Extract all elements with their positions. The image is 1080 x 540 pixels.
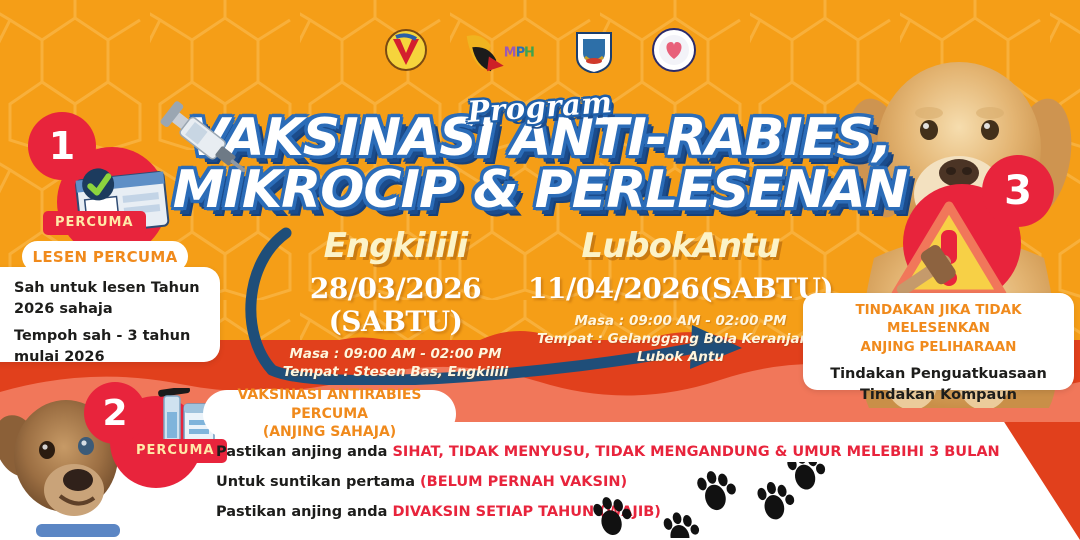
bullet-plain: Untuk suntikan pertama: [216, 474, 420, 490]
mphlg-logo: M P H: [463, 27, 537, 73]
event-date: 28/03/2026 (SABTU): [243, 272, 548, 338]
event-lubok-antu: LubokAntu 11/04/2026(SABTU) Masa : 09:00…: [528, 226, 833, 367]
enforcement-head-line-2: ANJING PELIHARAAN: [803, 337, 1074, 357]
lesen-percuma-pill: LESEN PERCUMA: [22, 241, 188, 272]
step-badge-2: 2: [84, 382, 146, 444]
veterinary-services-logo: [383, 27, 429, 73]
svg-text:H: H: [524, 45, 535, 60]
license-line-2: Tempoh sah - 3 tahun mulai 2026: [0, 320, 220, 368]
bullet-plain: Pastikan anjing anda: [216, 504, 392, 520]
event-time: Masa : 09:00 AM - 02:00 PM: [243, 345, 548, 363]
license-info-card: Sah untuk lesen Tahun 2026 sahaja Tempoh…: [0, 267, 220, 362]
enforcement-body-line-2: Tindakan Kompaun: [803, 385, 1074, 406]
bullet-line: Pastikan anjing anda SIHAT, TIDAK MENYUS…: [216, 444, 1000, 460]
event-venue: Tempat : Stesen Bas, Engkilili: [243, 363, 548, 381]
logo-bar: M P H: [0, 27, 1080, 73]
bullet-plain: Pastikan anjing anda: [216, 444, 392, 460]
svg-text:M: M: [504, 45, 517, 60]
license-line-1: Sah untuk lesen Tahun 2026 sahaja: [0, 267, 220, 320]
vaksinasi-pill-line-1: VAKSINASI ANTIRABIES PERCUMA: [203, 386, 456, 424]
percuma-tag-2: PERCUMA: [124, 439, 227, 463]
enforcement-info-card: TINDAKAN JIKA TIDAK MELESENKAN ANJING PE…: [803, 293, 1074, 390]
enforcement-head-line-1: TINDAKAN JIKA TIDAK MELESENKAN: [803, 293, 1074, 337]
event-venue: Tempat : Gelanggang Bola Keranjang, Lubo…: [528, 330, 833, 366]
poster-root: M P H Program VAKSINASI ANTI-RABIES, MIK…: [0, 0, 1080, 540]
step-badge-3: 3: [982, 155, 1054, 227]
event-date: 11/04/2026(SABTU): [528, 272, 833, 305]
enforcement-body-line-1: Tindakan Penguatkuasaan: [803, 357, 1074, 385]
bullet-highlight: SIHAT, TIDAK MENYUSU, TIDAK MENGANDUNG &…: [392, 444, 999, 460]
event-town: LubokAntu: [528, 226, 833, 266]
paw-print-trail: [590, 462, 850, 538]
event-town: Engkilili: [243, 226, 548, 266]
step-badge-1: 1: [28, 112, 96, 180]
event-time: Masa : 09:00 AM - 02:00 PM: [528, 312, 833, 330]
sarawak-crest-logo: [571, 27, 617, 73]
percuma-tag-1: PERCUMA: [43, 211, 146, 235]
vaksinasi-percuma-pill: VAKSINASI ANTIRABIES PERCUMA (ANJING SAH…: [203, 390, 456, 438]
event-engkilili: Engkilili 28/03/2026 (SABTU) Masa : 09:0…: [243, 226, 548, 381]
vaksinasi-pill-line-2: (ANJING SAHAJA): [263, 423, 396, 442]
heart-circle-logo: [651, 27, 697, 73]
